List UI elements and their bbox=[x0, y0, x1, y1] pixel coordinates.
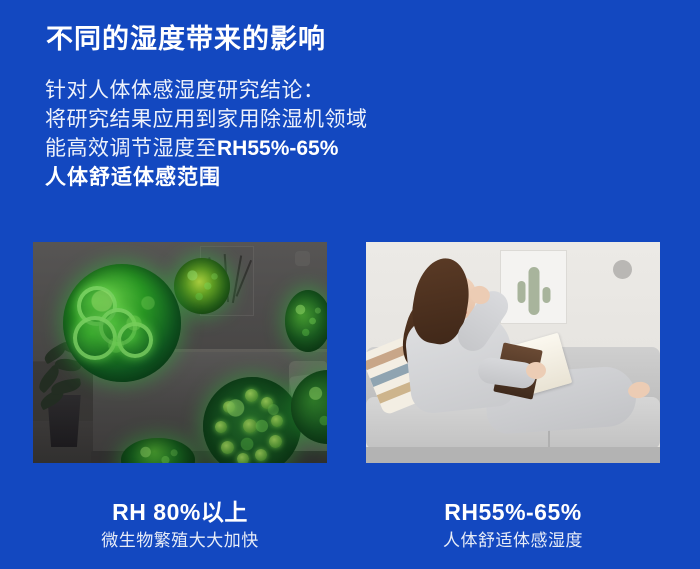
copy-line-2: 将研究结果应用到家用除湿机领域 bbox=[45, 105, 368, 134]
copy-line-4: 人体舒适体感范围 bbox=[45, 163, 368, 192]
microbe-bleb bbox=[99, 308, 137, 346]
dark-room-scene bbox=[33, 242, 327, 463]
page-title: 不同的湿度带来的影响 bbox=[46, 17, 326, 56]
microbe-spike bbox=[269, 435, 282, 448]
microbe-bleb bbox=[73, 316, 117, 360]
caption-subtitle: 人体舒适体感湿度 bbox=[366, 529, 660, 553]
body-copy: 针对人体体感湿度研究结论： 将研究结果应用到家用除湿机领域 能高效调节湿度至RH… bbox=[45, 76, 368, 192]
bright-room-scene bbox=[366, 242, 660, 463]
microbe-spike bbox=[271, 415, 283, 427]
wall-speaker bbox=[613, 260, 632, 279]
copy-line-3: 能高效调节湿度至RH55%-65% bbox=[45, 134, 368, 163]
copy-line-1: 针对人体体感湿度研究结论： bbox=[45, 76, 368, 105]
cactus-icon bbox=[528, 267, 539, 315]
caption-title: RH55%-65% bbox=[366, 498, 660, 526]
microbe-spike bbox=[221, 441, 234, 454]
wall-speaker bbox=[295, 251, 310, 266]
microbe-sphere-large bbox=[63, 264, 181, 382]
microbe-spike bbox=[243, 419, 257, 433]
microbe-sphere bbox=[285, 290, 327, 352]
woman-hand-holding-book bbox=[526, 362, 546, 379]
photo-comfort-humidity bbox=[366, 242, 660, 463]
microbe-spike bbox=[223, 401, 235, 413]
microbe-spike bbox=[215, 421, 227, 433]
microbe-spike bbox=[245, 389, 258, 402]
microbe-spike bbox=[261, 397, 273, 409]
wall-art-frame bbox=[500, 250, 567, 324]
microbe-sphere bbox=[174, 258, 230, 314]
caption-high-humidity: RH 80%以上 微生物繁殖大大加快 bbox=[33, 498, 327, 553]
copy-line-3-prefix: 能高效调节湿度至 bbox=[45, 137, 217, 160]
slide-root: 不同的湿度带来的影响 针对人体体感湿度研究结论： 将研究结果应用到家用除湿机领域… bbox=[0, 0, 700, 569]
microbe-bleb bbox=[117, 322, 153, 358]
caption-comfort-humidity: RH55%-65% 人体舒适体感湿度 bbox=[366, 498, 660, 553]
photo-high-humidity bbox=[33, 242, 327, 463]
microbe-spike bbox=[255, 449, 267, 461]
caption-subtitle: 微生物繁殖大大加快 bbox=[33, 529, 327, 553]
caption-title: RH 80%以上 bbox=[33, 498, 327, 526]
microbe-bleb bbox=[77, 286, 117, 326]
sofa-base bbox=[366, 447, 660, 463]
microbe-spike bbox=[237, 453, 249, 463]
humidity-range-highlight: RH55%-65% bbox=[217, 137, 338, 160]
